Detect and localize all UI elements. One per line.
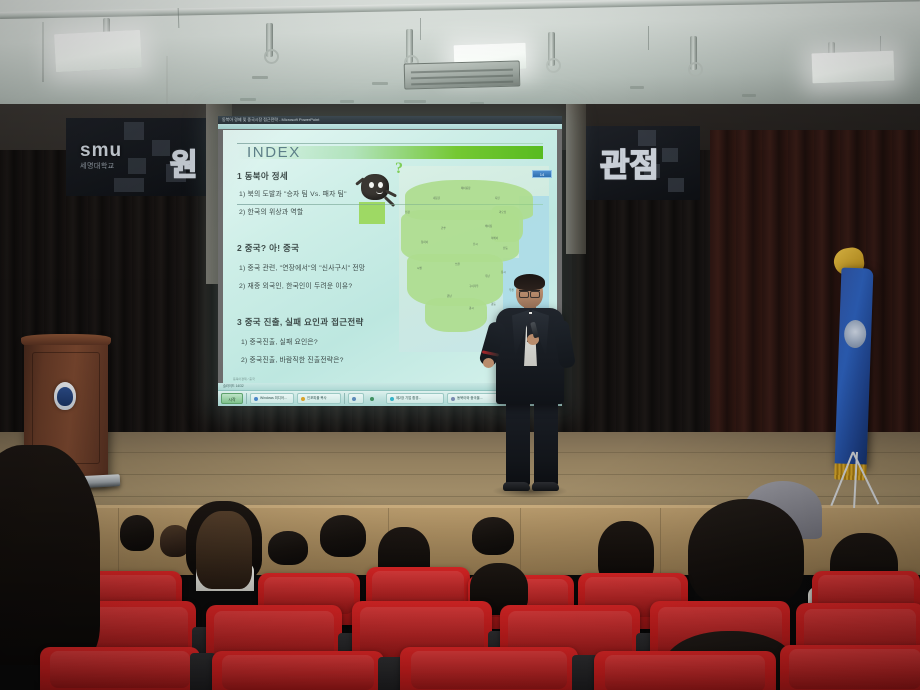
audience-head	[120, 515, 154, 551]
audience-head	[320, 515, 366, 557]
hanging-wire	[42, 22, 44, 82]
speaker-head	[516, 277, 543, 308]
smu-logo-text: smu	[80, 140, 122, 162]
wall-pillar	[566, 104, 586, 254]
ceiling-hook	[406, 29, 413, 63]
smu-logo-subtitle: 세명대학교	[80, 161, 115, 171]
start-button[interactable]: 시작	[221, 393, 243, 404]
banner-hangul-left: 원	[170, 140, 198, 184]
audience-head	[688, 499, 804, 607]
slide-section-item: 2) 한국의 위상과 역할	[239, 206, 303, 216]
audience-head-foreground	[0, 445, 100, 665]
ceiling	[0, 0, 920, 112]
auditorium-seat[interactable]	[780, 645, 920, 690]
taskbar-item[interactable]: 인포피플 복사	[297, 393, 341, 404]
slide-page-badge: 14	[532, 170, 552, 178]
speaker-hand-left	[483, 358, 494, 368]
taskbar-item[interactable]	[367, 393, 383, 404]
audience-area	[0, 455, 920, 690]
auditorium-seat[interactable]	[400, 647, 578, 690]
speaker-hair	[514, 274, 545, 290]
stage-curtain-right	[710, 130, 920, 460]
question-mark-icon: ?	[395, 160, 403, 178]
slide-title: INDEX	[247, 144, 301, 161]
podium-top	[21, 334, 111, 345]
auditorium-seat[interactable]	[594, 651, 776, 690]
slide-section-item: 1) 중국 관련, "연장에서"의 "신사구시" 전망	[239, 262, 365, 272]
audience-head	[472, 517, 514, 555]
glasses-icon	[519, 290, 540, 295]
ceiling-hook	[266, 23, 273, 57]
slide-footer: 동북아경제 / 중국	[233, 377, 255, 381]
taskbar-item[interactable]	[348, 393, 364, 404]
slide-section-heading: 1 동북아 정세	[237, 170, 288, 182]
auditorium-seat[interactable]	[40, 647, 200, 690]
slide-section-item: 2) 재중 외국인, 한국인이 두려운 이유?	[239, 280, 352, 290]
ceiling-light-panel	[812, 51, 895, 84]
university-crest-icon	[54, 382, 76, 410]
taskbar-item[interactable]: Windows 미디어...	[250, 393, 294, 404]
banner-hangul-right: 관점	[600, 140, 659, 186]
powerpoint-ribbon	[218, 124, 562, 129]
ceiling-hook	[548, 32, 555, 66]
slide-section-heading: 2 중국? 아! 중국	[237, 242, 299, 254]
powerpoint-titlebar: 동북아 경제 및 중국시장 접근전략 - Microsoft PowerPoin…	[218, 116, 562, 124]
ceiling-light-panel	[54, 30, 142, 72]
ceiling-track-rail	[0, 0, 920, 19]
green-accent-block	[359, 202, 385, 224]
slide-section-item: 1) 북의 도발과 "승자 팀 Vs. 패자 팀"	[239, 188, 347, 198]
taskbar-item[interactable]: 제2장 기업 환경...	[386, 393, 444, 404]
flag-emblem-icon	[844, 320, 867, 349]
audience-head	[196, 511, 252, 589]
auditorium-seat[interactable]	[212, 651, 384, 690]
slide-section-item: 2) 중국진출, 바람직한 진출전략은?	[241, 354, 344, 364]
auditorium-photo: smu 세명대학교 원 관점 동북아 경제 및 중국시장 접근전략 - Micr…	[0, 0, 920, 690]
audience-head	[268, 531, 308, 565]
slide-section-heading: 3 중국 진출, 실패 요인과 접근전략	[237, 316, 364, 328]
slide-section-item: 1) 중국진출, 실패 요인은?	[241, 336, 318, 346]
ceiling-hook	[690, 36, 697, 70]
hvac-vent	[404, 60, 521, 89]
